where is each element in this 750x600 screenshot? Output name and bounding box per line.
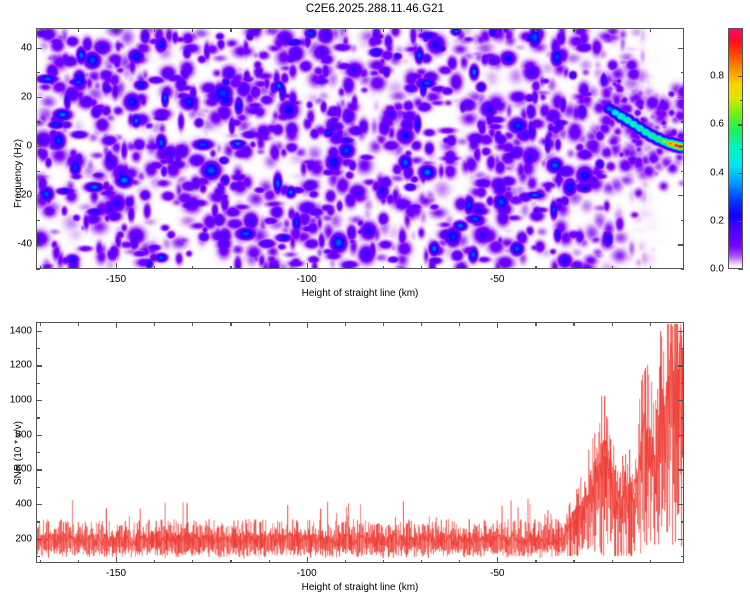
ytick-major-right (678, 97, 684, 98)
ytick-minor (36, 121, 40, 122)
xtick-minor-top (230, 322, 231, 326)
xtick-minor-top (192, 322, 193, 326)
xtick-minor (383, 560, 384, 564)
xtick-major-top (307, 28, 308, 34)
xtick-minor-top (421, 322, 422, 326)
colorbar-tick (738, 76, 743, 77)
ytick-major-right (678, 435, 684, 436)
colorbar-tick-label: 0.8 (696, 71, 724, 82)
ytick-major (36, 504, 42, 505)
xtick-minor-top (192, 28, 193, 32)
ytick-minor (36, 220, 40, 221)
ytick-major (36, 539, 42, 540)
page-title: C2E6.2025.288.11.46.G21 (0, 3, 750, 15)
ytick-major (36, 146, 42, 147)
xtick-major-top (116, 28, 117, 34)
xtick-minor-top (40, 28, 41, 32)
ytick-major (36, 97, 42, 98)
xtick-minor-top (650, 322, 651, 326)
xtick-minor-top (535, 322, 536, 326)
ytick-major-right (678, 195, 684, 196)
xtick-major (307, 263, 308, 269)
colorbar-tick-label: 0.0 (696, 264, 724, 275)
xtick-minor (573, 266, 574, 270)
snr-yaxis-title: SNR (10 * v/v) (13, 421, 24, 485)
ytick-label: 1000 (4, 395, 32, 406)
ytick-major (36, 331, 42, 332)
colorbar-tick-minor (740, 197, 743, 198)
spectrogram-image (37, 29, 683, 268)
xtick-minor-top (269, 322, 270, 326)
ytick-label: 20 (4, 91, 32, 102)
ytick-major-right (678, 400, 684, 401)
ytick-minor-right (681, 521, 685, 522)
xtick-minor (78, 560, 79, 564)
ytick-label: 400 (4, 499, 32, 510)
xtick-minor-top (612, 322, 613, 326)
xtick-minor-top (573, 28, 574, 32)
ytick-label: 1400 (4, 325, 32, 336)
xtick-minor-top (459, 322, 460, 326)
xtick-minor (269, 266, 270, 270)
ytick-major (36, 195, 42, 196)
colorbar-tick (738, 221, 743, 222)
xtick-minor (230, 560, 231, 564)
colorbar-tick-minor (740, 245, 743, 246)
ytick-major (36, 435, 42, 436)
ytick-minor-right (681, 452, 685, 453)
xtick-label: -100 (297, 568, 317, 579)
xtick-major (116, 263, 117, 269)
xtick-minor (421, 560, 422, 564)
ytick-major-right (678, 146, 684, 147)
ytick-minor-right (681, 121, 685, 122)
xtick-major (497, 557, 498, 563)
xtick-label: -100 (297, 274, 317, 285)
xtick-minor (612, 266, 613, 270)
xtick-major-top (116, 322, 117, 328)
xtick-minor (192, 266, 193, 270)
ytick-major-right (678, 244, 684, 245)
xtick-major (307, 557, 308, 563)
ytick-major-right (678, 365, 684, 366)
xtick-minor-top (535, 28, 536, 32)
colorbar-tick-minor (740, 52, 743, 53)
xtick-minor-top (650, 28, 651, 32)
xtick-major-top (307, 322, 308, 328)
xtick-minor (650, 266, 651, 270)
ytick-minor (36, 171, 40, 172)
ytick-minor-right (681, 348, 685, 349)
spectrogram-panel (36, 28, 684, 269)
xtick-major-top (497, 322, 498, 328)
xtick-minor (459, 266, 460, 270)
colorbar-tick (738, 269, 743, 270)
xtick-minor (650, 560, 651, 564)
ytick-major (36, 469, 42, 470)
xtick-minor (421, 266, 422, 270)
xtick-major (497, 263, 498, 269)
colorbar-tick-label: 0.2 (696, 215, 724, 226)
xtick-minor-top (345, 322, 346, 326)
ytick-minor (36, 348, 40, 349)
ytick-minor (36, 556, 40, 557)
xtick-label: -50 (490, 274, 504, 285)
xtick-minor (78, 266, 79, 270)
xtick-minor-top (459, 28, 460, 32)
xtick-minor (40, 560, 41, 564)
ytick-major (36, 400, 42, 401)
figure-root: C2E6.2025.288.11.46.G21 -150-100-5040200… (0, 0, 750, 600)
ytick-minor (36, 72, 40, 73)
xtick-minor-top (78, 28, 79, 32)
ytick-minor-right (681, 171, 685, 172)
xtick-major-top (497, 28, 498, 34)
snr-trace (37, 323, 683, 562)
xtick-minor (535, 560, 536, 564)
xtick-minor (535, 266, 536, 270)
ytick-minor-right (681, 417, 685, 418)
ytick-minor (36, 487, 40, 488)
colorbar-tick-label: 0.6 (696, 119, 724, 130)
ytick-label: -40 (4, 239, 32, 250)
colorbar-tick-minor (740, 149, 743, 150)
xtick-minor-top (383, 322, 384, 326)
colorbar-tick-label: 0.4 (696, 167, 724, 178)
xtick-label: -50 (490, 568, 504, 579)
ytick-minor-right (681, 487, 685, 488)
xtick-minor (459, 560, 460, 564)
ytick-minor-right (681, 220, 685, 221)
ytick-minor (36, 383, 40, 384)
ytick-minor (36, 269, 40, 270)
ytick-label: 200 (4, 533, 32, 544)
xtick-major (116, 557, 117, 563)
xtick-minor-top (421, 28, 422, 32)
ytick-minor-right (681, 383, 685, 384)
xtick-minor-top (230, 28, 231, 32)
xtick-minor-top (78, 322, 79, 326)
xtick-label: -150 (106, 568, 126, 579)
ytick-minor (36, 452, 40, 453)
colorbar-tick (738, 173, 743, 174)
ytick-minor (36, 417, 40, 418)
xtick-minor (383, 266, 384, 270)
xtick-minor (230, 266, 231, 270)
xtick-minor (154, 266, 155, 270)
xtick-label: -150 (106, 274, 126, 285)
ytick-minor-right (681, 269, 685, 270)
xtick-minor (154, 560, 155, 564)
ytick-minor-right (681, 556, 685, 557)
xtick-minor-top (573, 322, 574, 326)
ytick-major (36, 244, 42, 245)
ytick-major-right (678, 48, 684, 49)
xtick-minor (612, 560, 613, 564)
spectrogram-yaxis-title: Frequency (Hz) (13, 139, 24, 208)
xtick-minor (40, 266, 41, 270)
xtick-minor-top (269, 28, 270, 32)
xtick-minor (192, 560, 193, 564)
xtick-minor (269, 560, 270, 564)
snr-panel (36, 322, 684, 563)
ytick-minor-right (681, 72, 685, 73)
xtick-minor-top (383, 28, 384, 32)
colorbar-tick-minor (740, 100, 743, 101)
xtick-minor-top (154, 322, 155, 326)
spectrogram-xaxis-title: Height of straight line (km) (302, 288, 419, 299)
ytick-major-right (678, 504, 684, 505)
ytick-major (36, 48, 42, 49)
colorbar-tick (738, 124, 743, 125)
ytick-major (36, 365, 42, 366)
ytick-label: 40 (4, 42, 32, 53)
xtick-minor (345, 266, 346, 270)
ytick-major-right (678, 331, 684, 332)
xtick-minor-top (345, 28, 346, 32)
xtick-minor (345, 560, 346, 564)
ytick-label: 1200 (4, 360, 32, 371)
ytick-major-right (678, 539, 684, 540)
snr-xaxis-title: Height of straight line (km) (302, 582, 419, 593)
xtick-minor-top (154, 28, 155, 32)
ytick-major-right (678, 469, 684, 470)
xtick-minor-top (612, 28, 613, 32)
xtick-minor-top (40, 322, 41, 326)
xtick-minor (573, 560, 574, 564)
ytick-minor (36, 521, 40, 522)
